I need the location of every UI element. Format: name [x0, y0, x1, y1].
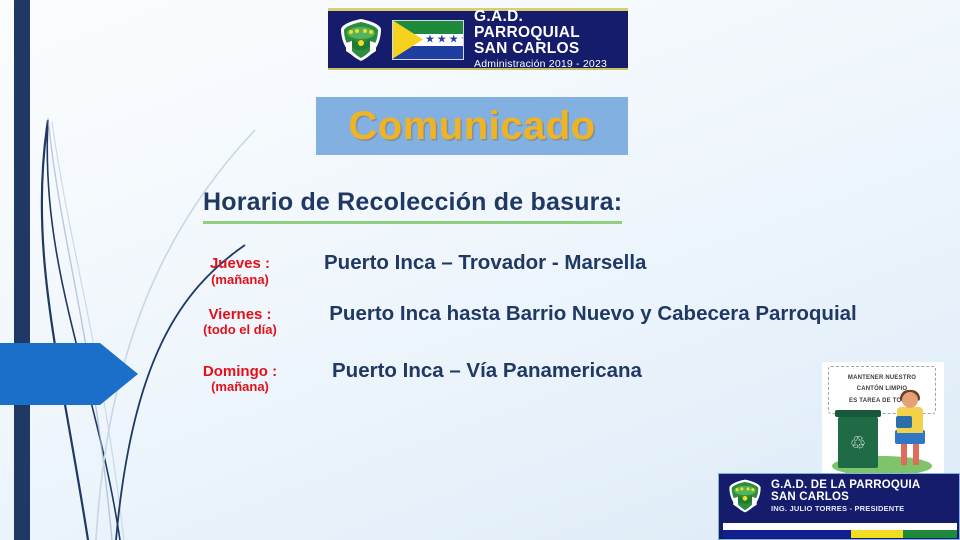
person-leg-left [901, 443, 907, 465]
strip-segment-green [903, 530, 957, 538]
left-accent-bar [14, 0, 30, 540]
schedule-route: Puerto Inca – Vía Panamericana [310, 358, 870, 384]
page-title: Comunicado [348, 104, 595, 149]
person-icon [894, 392, 928, 468]
header-administration-label: Administración 2019 - 2023 [474, 59, 628, 70]
municipal-crest-icon [338, 17, 384, 63]
schedule-list: Jueves : (mañana) Puerto Inca – Trovador… [170, 250, 870, 408]
footer-line-2: SAN CARLOS [771, 491, 920, 503]
person-head [902, 392, 918, 408]
person-leg-right [913, 443, 919, 465]
footer-logo-banner: G.A.D. DE LA PARROQUIA SAN CARLOS ING. J… [718, 473, 960, 540]
schedule-row: Jueves : (mañana) Puerto Inca – Trovador… [170, 250, 870, 287]
schedule-day-name: Jueves : [170, 256, 310, 273]
title-banner: Comunicado [316, 97, 628, 155]
subtitle-heading: Horario de Recolección de basura: [203, 188, 622, 224]
flag-triangle [393, 21, 423, 59]
blue-arrow-accent [0, 343, 138, 405]
schedule-day: Domingo : (mañana) [170, 358, 310, 395]
schedule-day-time: (mañana) [170, 380, 310, 394]
header-line-2: SAN CARLOS [474, 41, 628, 57]
schedule-row: Viernes : (todo el día) Puerto Inca hast… [170, 301, 870, 338]
header-title-group: G.A.D. PARROQUIAL SAN CARLOS Administrac… [474, 9, 628, 71]
footer-color-strip [723, 530, 957, 538]
schedule-row: Domingo : (mañana) Puerto Inca – Vía Pan… [170, 358, 870, 395]
schedule-route: Puerto Inca – Trovador - Marsella [310, 250, 870, 276]
strip-segment-yellow [851, 530, 903, 538]
footer-top-row: G.A.D. DE LA PARROQUIA SAN CARLOS ING. J… [719, 474, 959, 518]
slide-canvas: ★★★★ G.A.D. PARROQUIAL SAN CARLOS Admini… [0, 0, 960, 540]
municipal-crest-icon [727, 478, 763, 514]
footer-title-group: G.A.D. DE LA PARROQUIA SAN CARLOS ING. J… [771, 479, 920, 514]
schedule-day: Viernes : (todo el día) [170, 301, 310, 338]
schedule-day-time: (mañana) [170, 273, 310, 287]
schedule-route: Puerto Inca hasta Barrio Nuevo y Cabecer… [310, 301, 870, 327]
schedule-day-name: Domingo : [170, 364, 310, 381]
san-carlos-flag-icon: ★★★★ [392, 20, 464, 60]
header-logo-banner: ★★★★ G.A.D. PARROQUIAL SAN CARLOS Admini… [328, 8, 628, 70]
footer-president-label: ING. JULIO TORRES - PRESIDENTE [771, 505, 920, 513]
bubble-line-1: MANTENER NUESTRO [848, 373, 916, 384]
schedule-day-name: Viernes : [170, 307, 310, 324]
recycle-symbol-icon: ♲ [850, 434, 866, 452]
person-held-box [896, 416, 912, 428]
schedule-day: Jueves : (mañana) [170, 250, 310, 287]
schedule-day-time: (todo el día) [170, 323, 310, 337]
footer-line-1: G.A.D. DE LA PARROQUIA [771, 479, 920, 491]
header-line-1: G.A.D. PARROQUIAL [474, 9, 628, 42]
recycling-illustration: MANTENER NUESTRO CANTÓN LIMPIO ES TAREA … [822, 362, 944, 480]
strip-segment-blue [723, 530, 851, 538]
recycling-bin-icon: ♲ [838, 416, 878, 468]
flag-stars: ★★★★ [425, 34, 464, 45]
